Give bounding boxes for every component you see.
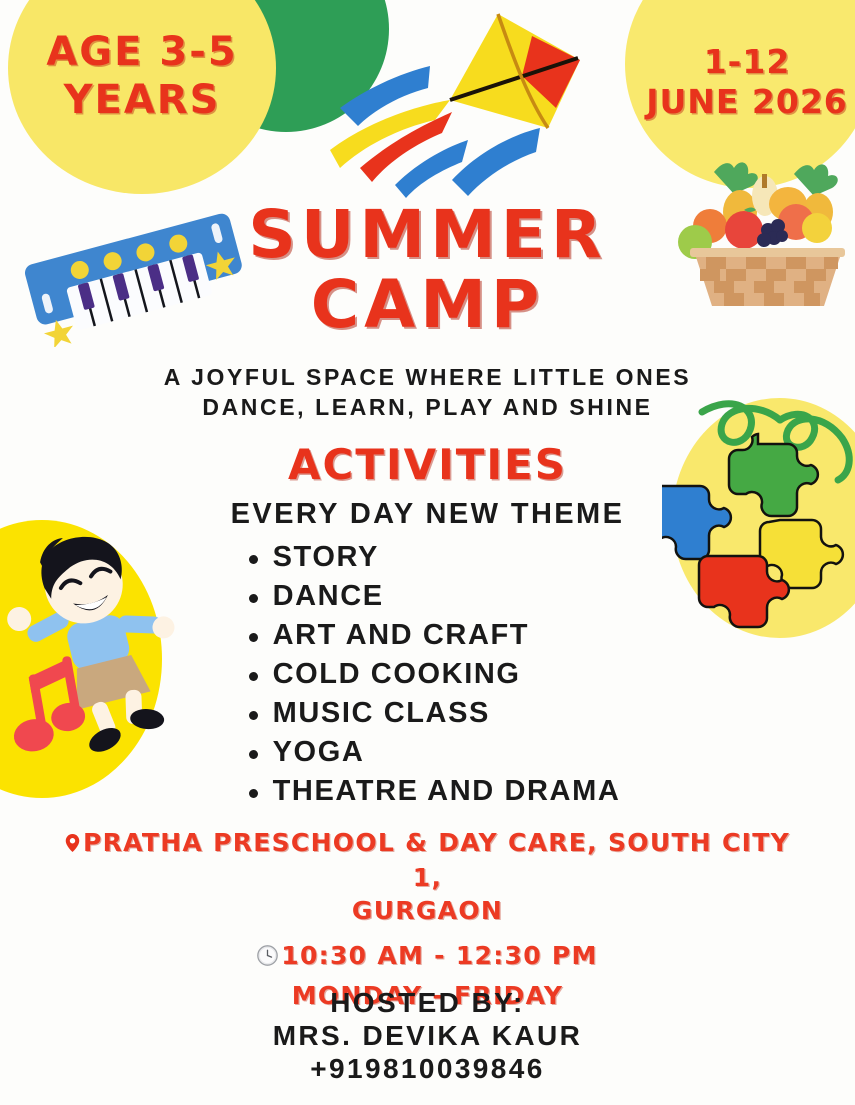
clock-icon bbox=[257, 941, 278, 975]
age-badge-line2: YEARS bbox=[22, 76, 262, 124]
venue-line1: PRATHA PRESCHOOL & DAY CARE, SOUTH CITY … bbox=[83, 828, 790, 892]
list-item: THEATRE AND DRAMA bbox=[273, 772, 621, 811]
activities-list: STORY DANCE ART AND CRAFT COLD COOKING M… bbox=[0, 538, 855, 811]
list-item: COLD COOKING bbox=[273, 655, 621, 694]
title-line2: CAMP bbox=[0, 270, 855, 340]
title-line1: SUMMER bbox=[248, 196, 606, 273]
date-badge-line1: 1-12 bbox=[638, 42, 855, 82]
list-item: STORY bbox=[273, 538, 621, 577]
event-time-text: 10:30 AM - 12:30 PM bbox=[281, 941, 597, 970]
venue: PRATHA PRESCHOOL & DAY CARE, SOUTH CITY … bbox=[0, 826, 855, 927]
theme-line: EVERY DAY NEW THEME bbox=[0, 498, 855, 531]
location-pin-icon bbox=[65, 828, 80, 861]
venue-line2: GURGAON bbox=[58, 894, 797, 927]
list-item: YOGA bbox=[273, 733, 621, 772]
date-badge: 1-12 JUNE 2026 bbox=[638, 42, 855, 122]
list-item: DANCE bbox=[273, 577, 621, 616]
age-badge: AGE 3-5 YEARS bbox=[22, 28, 262, 124]
summer-camp-poster: AGE 3-5 YEARS 1-12 JUNE 2026 SUMMER CAMP… bbox=[0, 0, 855, 1105]
list-item: MUSIC CLASS bbox=[273, 694, 621, 733]
host-info: HOSTED BY: MRS. DEVIKA KAUR +91981003984… bbox=[0, 986, 855, 1085]
list-item: ART AND CRAFT bbox=[273, 616, 621, 655]
host-phone: +919810039846 bbox=[0, 1052, 855, 1085]
host-name: MRS. DEVIKA KAUR bbox=[0, 1019, 855, 1052]
event-time: 10:30 AM - 12:30 PM bbox=[0, 939, 855, 975]
activities-heading: ACTIVITIES bbox=[0, 440, 855, 489]
age-badge-line1: AGE 3-5 bbox=[22, 28, 262, 76]
date-badge-line2: JUNE 2026 bbox=[638, 82, 855, 122]
event-details: PRATHA PRESCHOOL & DAY CARE, SOUTH CITY … bbox=[0, 826, 855, 1013]
tagline-line1: A JOYFUL SPACE WHERE LITTLE ONES bbox=[0, 362, 855, 392]
tagline-line2: DANCE, LEARN, PLAY AND SHINE bbox=[0, 392, 855, 422]
kite-icon bbox=[300, 0, 590, 200]
tagline: A JOYFUL SPACE WHERE LITTLE ONES DANCE, … bbox=[0, 362, 855, 422]
page-title: SUMMER CAMP bbox=[0, 200, 855, 340]
host-label: HOSTED BY: bbox=[0, 986, 855, 1019]
